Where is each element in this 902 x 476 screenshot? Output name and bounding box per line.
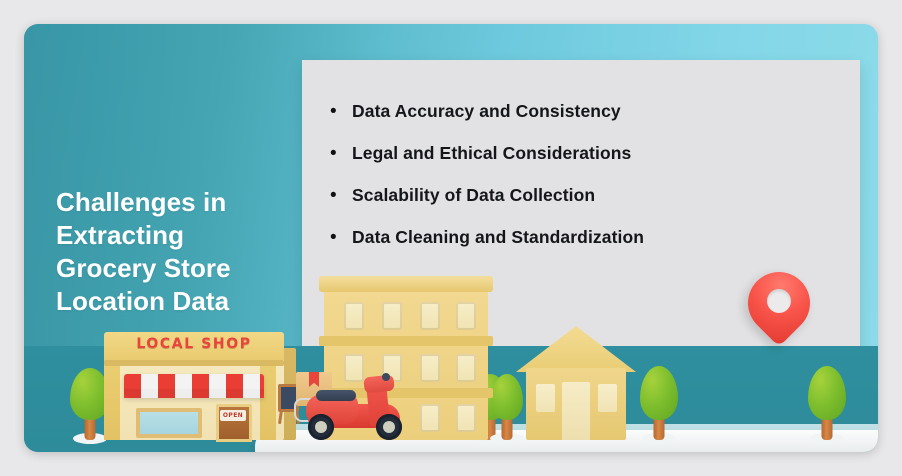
scooter-headlight — [363, 374, 395, 393]
list-item-label: Data Cleaning and Standardization — [352, 227, 644, 248]
tree-icon — [638, 360, 680, 440]
list-item-label: Legal and Ethical Considerations — [352, 143, 631, 164]
house-roof — [516, 326, 636, 372]
scooter-mirror — [382, 373, 390, 381]
apartment-ledge — [319, 336, 493, 346]
pin-hole — [767, 289, 791, 313]
tree-crown — [808, 366, 846, 420]
challenges-list: • Data Accuracy and Consistency • Legal … — [330, 90, 850, 258]
delivery-scooter — [302, 378, 420, 440]
bullet-icon: • — [330, 144, 352, 163]
apartment-window — [456, 404, 476, 432]
apartment-window — [382, 302, 402, 330]
list-item: • Legal and Ethical Considerations — [330, 132, 850, 174]
apartment-roof-cap — [319, 276, 493, 292]
local-shop-building: LOCAL SHOP OPEN — [104, 332, 296, 440]
scooter-seat — [316, 390, 356, 401]
scooter-wheel — [308, 414, 334, 440]
apartment-window — [420, 404, 440, 432]
shop-awning — [124, 374, 264, 398]
house-window — [598, 384, 617, 412]
bullet-icon: • — [330, 102, 352, 121]
chalkboard-leg — [278, 410, 283, 424]
apartment-window — [456, 302, 476, 330]
house-building — [516, 326, 636, 440]
list-item: • Data Cleaning and Standardization — [330, 216, 850, 258]
hero-card: Challenges in Extracting Grocery Store L… — [24, 24, 878, 452]
location-pin-icon — [748, 272, 810, 346]
scooter-wheel — [376, 414, 402, 440]
house-window — [536, 384, 555, 412]
tree-icon — [806, 360, 848, 440]
apartment-window — [456, 354, 476, 382]
apartment-window — [344, 302, 364, 330]
shop-window — [136, 408, 202, 438]
screenshot-stage: Challenges in Extracting Grocery Store L… — [0, 0, 902, 476]
list-item-label: Scalability of Data Collection — [352, 185, 595, 206]
shop-pillar — [104, 354, 120, 440]
list-item-label: Data Accuracy and Consistency — [352, 101, 621, 122]
apartment-window — [420, 354, 440, 382]
bullet-icon: • — [330, 228, 352, 247]
list-item: • Data Accuracy and Consistency — [330, 90, 850, 132]
list-item: • Scalability of Data Collection — [330, 174, 850, 216]
apartment-window — [420, 302, 440, 330]
house-door — [562, 382, 590, 440]
bullet-icon: • — [330, 186, 352, 205]
open-sign: OPEN — [220, 410, 246, 421]
shop-sign-text: LOCAL SHOP — [104, 336, 284, 352]
tree-crown — [640, 366, 678, 420]
